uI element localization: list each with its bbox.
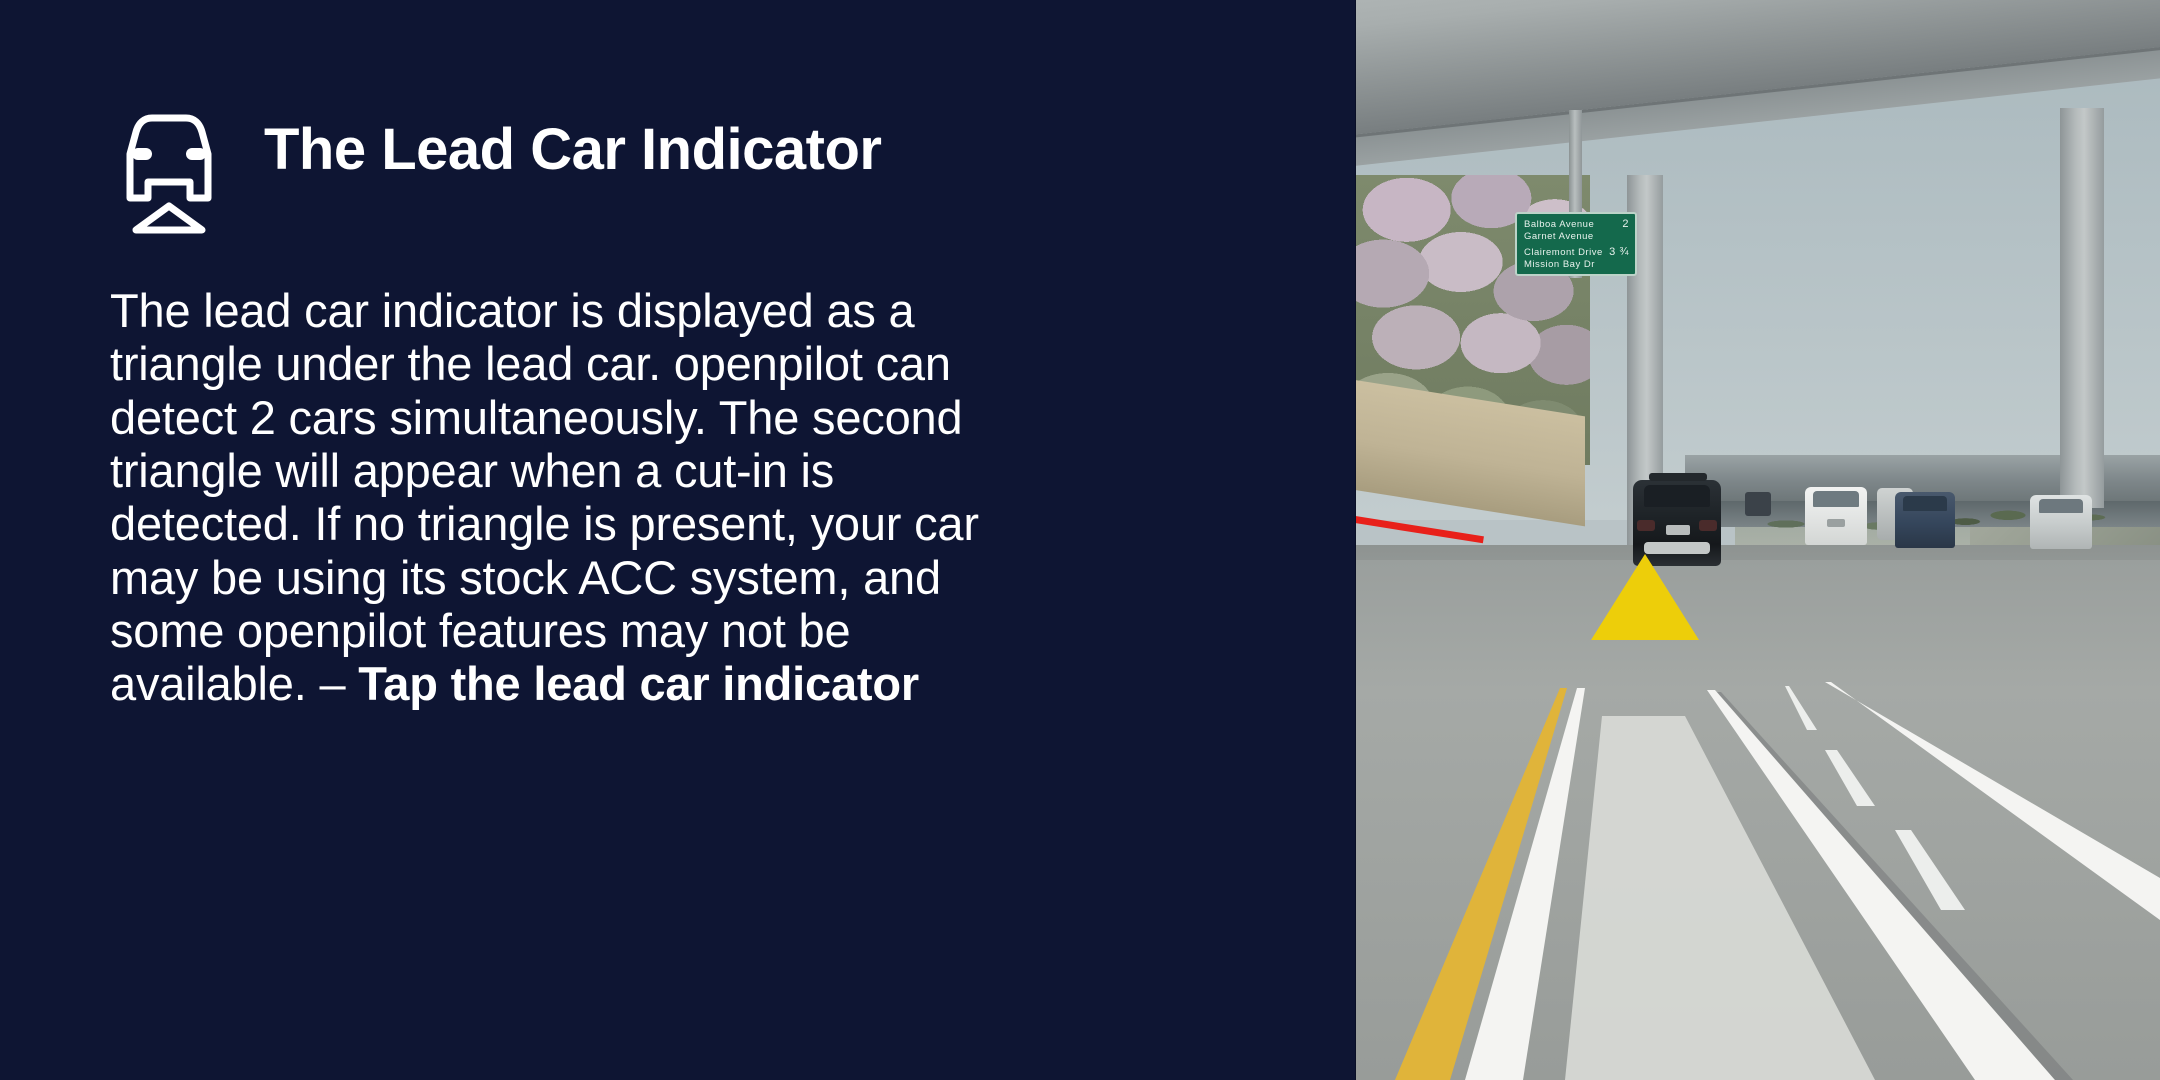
barrier-red-stripe <box>1355 516 1484 543</box>
lead-vehicle-bumper <box>1644 542 1710 554</box>
lead-car-indicator-screen: The Lead Car Indicator The lead car indi… <box>0 0 2160 1080</box>
highway-exit-sign: Balboa Avenue Garnet Avenue 2 Clairemont… <box>1515 212 1637 276</box>
panel-divider <box>1355 0 1356 1080</box>
lead-vehicle-roofrack <box>1649 473 1707 481</box>
dashcam-photo: Balboa Avenue Garnet Avenue 2 Clairemont… <box>1355 0 2160 1080</box>
sign-street-names-1: Balboa Avenue Garnet Avenue <box>1524 219 1594 242</box>
panel-description: The lead car indicator is displayed as a… <box>110 284 980 711</box>
silver-suv <box>2030 495 2092 549</box>
sign-line-clairemont: Clairemont Drive <box>1524 247 1603 259</box>
white-suv-plate <box>1827 519 1845 527</box>
sign-line-balboa: Balboa Avenue <box>1524 219 1594 231</box>
sign-line-mission-bay: Mission Bay Dr <box>1524 259 1603 271</box>
overpass-pillar-right <box>2060 108 2104 508</box>
blue-truck-window <box>1903 496 1947 511</box>
lead-car-triangle-indicator[interactable] <box>1591 554 1699 640</box>
sign-group-1: Balboa Avenue Garnet Avenue 2 <box>1524 219 1629 242</box>
silver-suv-window <box>2039 499 2083 513</box>
sign-distance-2: 3 ¾ <box>1603 247 1629 259</box>
white-suv <box>1805 487 1867 545</box>
page-title: The Lead Car Indicator <box>264 120 881 181</box>
lead-vehicle-license-plate <box>1666 525 1690 535</box>
sign-distance-1: 2 <box>1616 219 1629 231</box>
lead-vehicle-taillight-right <box>1699 520 1717 531</box>
sign-street-names-2: Clairemont Drive Mission Bay Dr <box>1524 247 1603 270</box>
distant-vehicle <box>1745 492 1771 516</box>
description-text: The lead car indicator is displayed as a… <box>110 284 979 710</box>
white-suv-window <box>1813 491 1859 507</box>
lead-vehicle-rear-window <box>1644 485 1710 507</box>
blue-truck <box>1895 492 1955 548</box>
sign-group-2: Clairemont Drive Mission Bay Dr 3 ¾ <box>1524 247 1629 270</box>
lane-markings-layer <box>1355 620 2160 1080</box>
info-panel: The Lead Car Indicator The lead car indi… <box>0 0 1355 1080</box>
cta-text: Tap the lead car indicator <box>358 657 919 710</box>
panel-header: The Lead Car Indicator <box>110 92 1250 232</box>
sign-line-garnet: Garnet Avenue <box>1524 231 1594 243</box>
lead-vehicle-taillight-left <box>1637 520 1655 531</box>
lead-car-with-triangle-icon <box>110 94 228 234</box>
